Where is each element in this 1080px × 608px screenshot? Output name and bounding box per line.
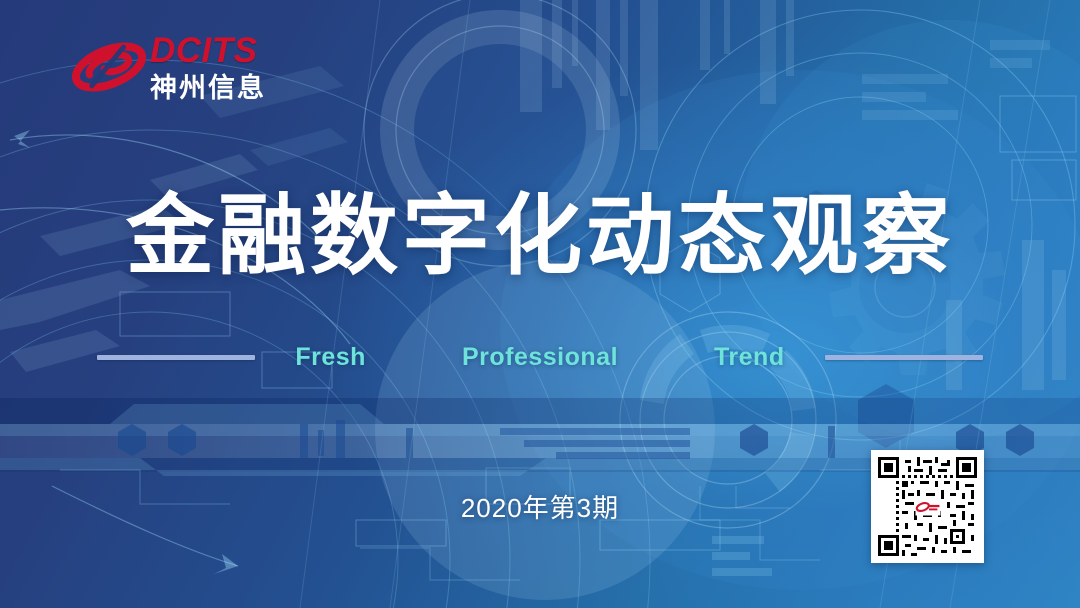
logo-chinese-name: 神州信息	[150, 72, 282, 104]
dcits-swoosh-mark	[72, 34, 146, 100]
tagline-word-fresh: Fresh	[295, 343, 366, 372]
tagline-rule-left	[97, 355, 255, 360]
tagline-row: Fresh Professional Trend	[0, 340, 1080, 374]
page-title: 金融数字化动态观察	[0, 186, 1080, 286]
logo-text-block: DCITS 神州信息	[150, 32, 282, 108]
presentation-cover-slide: DCITS 神州信息 金融数字化动态观察 Fresh Professional …	[0, 0, 1080, 608]
wechat-qr-code[interactable]	[871, 450, 984, 563]
dcits-logo: DCITS 神州信息	[72, 32, 282, 110]
tagline-word-trend: Trend	[714, 343, 785, 372]
tagline-word-professional: Professional	[462, 343, 618, 372]
tagline-rule-right	[825, 355, 983, 360]
logo-wordmark: DCITS	[150, 32, 282, 70]
dcits-mini-logo	[915, 498, 940, 515]
